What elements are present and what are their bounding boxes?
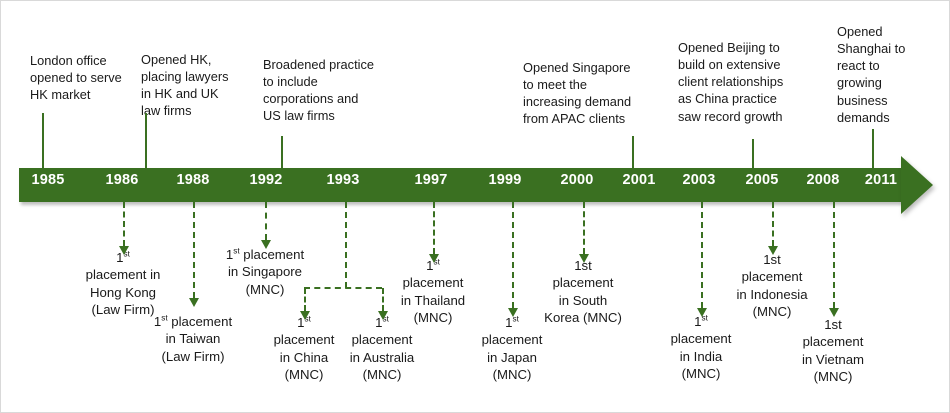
connector-dashed-placement-indonesia	[772, 202, 774, 246]
arrow-down-icon-placement-indonesia	[768, 246, 778, 255]
event-label-body: placement in India (MNC)	[671, 331, 732, 381]
arrow-down-icon-placement-thailand	[429, 254, 439, 263]
year-label-1988: 1988	[176, 172, 209, 188]
event-label-placement-indonesia: 1st placement in Indonesia (MNC)	[736, 251, 807, 321]
year-label-2001: 2001	[622, 172, 655, 188]
event-label-body: placement in China (MNC)	[274, 332, 335, 382]
arrow-down-icon-placement-vietnam	[829, 308, 839, 317]
year-label-2003: 2003	[682, 172, 715, 188]
event-label-body: placement in Australia (MNC)	[350, 332, 415, 382]
connector-branch-bar-1993	[304, 287, 382, 289]
arrow-down-icon-placement-south-korea	[579, 254, 589, 263]
connector-dashed-placement-vietnam	[833, 202, 835, 308]
event-label-placement-china: 1st placement in China (MNC)	[274, 314, 335, 384]
timeline-infographic: London office opened to serve HK marketO…	[0, 0, 950, 413]
connector-dashed-placement-hong-kong	[123, 202, 125, 246]
connector-dashed-placement-australia	[382, 288, 384, 311]
connector-line-opened-singapore	[632, 136, 634, 169]
connector-dashed-placement-taiwan	[193, 202, 195, 298]
event-label-opened-shanghai: Opened Shanghai to react to growing busi…	[837, 23, 919, 126]
connector-dashed-placement-thailand	[433, 202, 435, 254]
ordinal-number: 1st	[824, 317, 842, 332]
connector-line-london-office	[42, 113, 44, 169]
connector-branch-stem-1993	[345, 202, 347, 288]
connector-line-broadened-practice	[281, 136, 283, 169]
connector-dashed-placement-india	[701, 202, 703, 308]
connector-line-opened-shanghai	[872, 129, 874, 169]
event-label-placement-south-korea: 1st placement in South Korea (MNC)	[544, 257, 622, 327]
year-label-1999: 1999	[488, 172, 521, 188]
year-label-1992: 1992	[249, 172, 282, 188]
event-label-placement-japan: 1st placement in Japan (MNC)	[482, 314, 543, 384]
event-label-body: placement in South Korea (MNC)	[544, 275, 622, 325]
event-label-opened-beijing: Opened Beijing to build on extensive cli…	[678, 39, 814, 125]
arrow-down-icon-placement-hong-kong	[119, 246, 129, 255]
event-label-london-office: London office opened to serve HK market	[30, 52, 138, 103]
event-label-opened-singapore: Opened Singapore to meet the increasing …	[523, 59, 658, 128]
year-label-2008: 2008	[806, 172, 839, 188]
year-label-1985: 1985	[31, 172, 64, 188]
timeline-arrowhead-icon	[901, 156, 933, 214]
connector-line-opened-beijing	[752, 139, 754, 169]
arrow-down-icon-placement-singapore	[261, 240, 271, 249]
event-label-placement-india: 1st placement in India (MNC)	[671, 313, 732, 383]
event-label-opened-hk: Opened HK, placing lawyers in HK and UK …	[141, 51, 253, 120]
event-label-body: placement in Singapore (MNC)	[228, 247, 304, 297]
connector-dashed-placement-japan	[512, 202, 514, 308]
ordinal-number: 1	[505, 315, 512, 330]
arrow-down-icon-placement-japan	[508, 308, 518, 317]
event-label-body: placement in Thailand (MNC)	[401, 275, 465, 325]
event-label-body: placement in Japan (MNC)	[482, 332, 543, 382]
year-label-2011: 2011	[865, 172, 897, 188]
connector-dashed-placement-south-korea	[583, 202, 585, 254]
year-label-1993: 1993	[326, 172, 359, 188]
year-label-2005: 2005	[745, 172, 778, 188]
year-label-1986: 1986	[105, 172, 138, 188]
event-label-placement-vietnam: 1st placement in Vietnam (MNC)	[802, 316, 864, 386]
event-label-placement-singapore: 1st placement in Singapore (MNC)	[226, 246, 304, 298]
arrow-down-icon-placement-taiwan	[189, 298, 199, 307]
event-label-broadened-practice: Broadened practice to include corporatio…	[263, 56, 403, 125]
connector-dashed-placement-singapore	[265, 202, 267, 240]
event-label-body: placement in Taiwan (Law Firm)	[161, 314, 232, 364]
arrow-down-icon-placement-australia	[378, 311, 388, 320]
event-label-body: placement in Vietnam (MNC)	[802, 334, 864, 384]
event-label-placement-taiwan: 1st placement in Taiwan (Law Firm)	[154, 313, 232, 365]
connector-dashed-placement-china	[304, 288, 306, 311]
connector-line-opened-hk	[145, 113, 147, 169]
year-label-1997: 1997	[414, 172, 447, 188]
arrow-down-icon-placement-india	[697, 308, 707, 317]
arrow-down-icon-placement-china	[300, 311, 310, 320]
event-label-placement-thailand: 1st placement in Thailand (MNC)	[401, 257, 465, 327]
event-label-body: placement in Indonesia (MNC)	[736, 269, 807, 319]
event-label-body: placement in Hong Kong (Law Firm)	[86, 267, 161, 317]
event-label-placement-hong-kong: 1st placement in Hong Kong (Law Firm)	[86, 249, 161, 319]
year-label-2000: 2000	[560, 172, 593, 188]
